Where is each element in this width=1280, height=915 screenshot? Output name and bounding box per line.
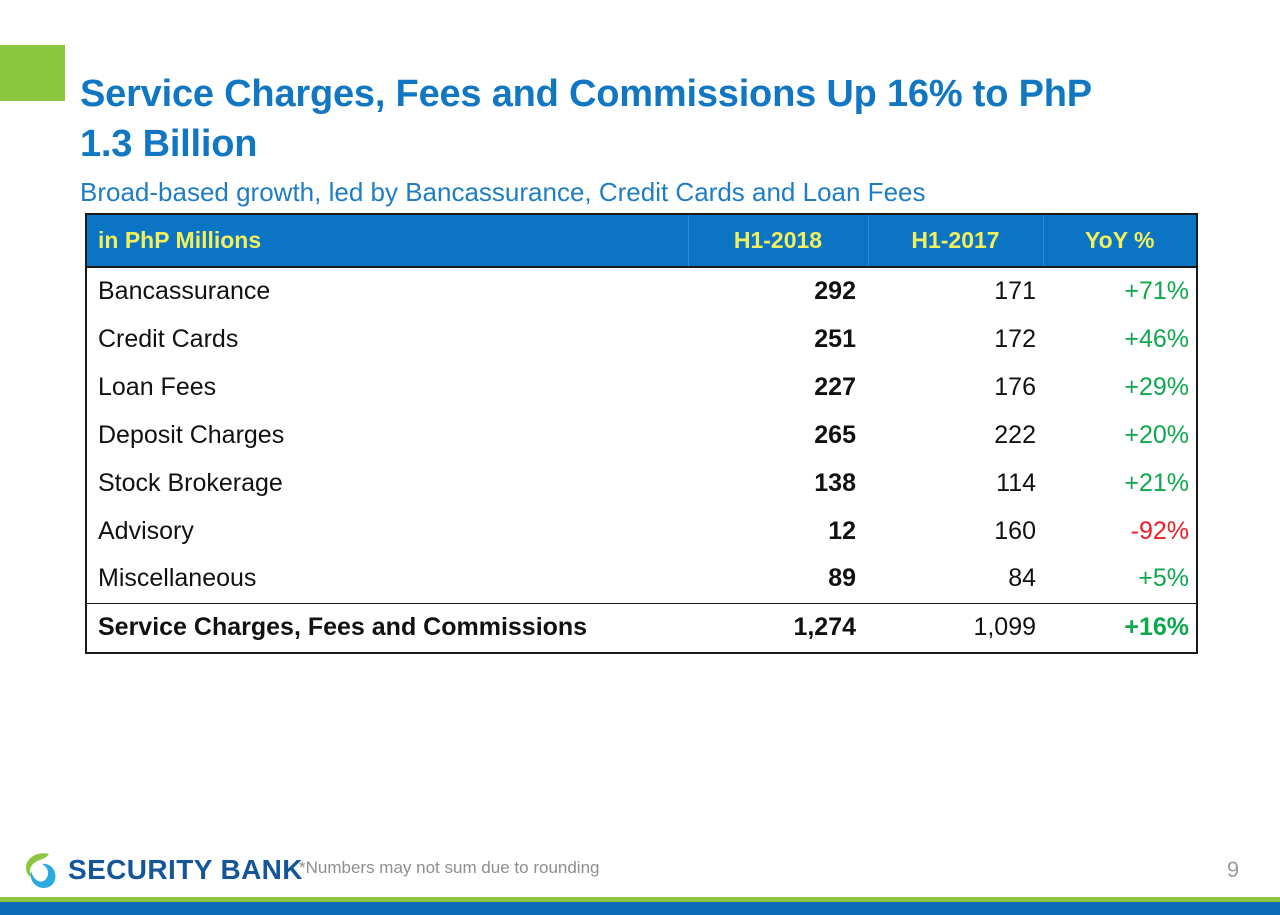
row-previous: 114: [868, 459, 1043, 507]
row-label: Stock Brokerage: [86, 459, 688, 507]
row-yoy: +46%: [1043, 315, 1197, 363]
column-header-h1-2017: H1-2017: [868, 214, 1043, 267]
row-current: 292: [688, 267, 868, 315]
accent-block: [0, 45, 65, 101]
row-previous: 172: [868, 315, 1043, 363]
row-label: Bancassurance: [86, 267, 688, 315]
table-total-row: Service Charges, Fees and Commissions 1,…: [86, 603, 1197, 653]
total-previous: 1,099: [868, 603, 1043, 653]
financial-table-container: in PhP Millions H1-2018 H1-2017 YoY % Ba…: [85, 213, 1196, 654]
row-current: 138: [688, 459, 868, 507]
row-current: 251: [688, 315, 868, 363]
table-row: Deposit Charges 265 222 +20%: [86, 411, 1197, 459]
table-row: Bancassurance 292 171 +71%: [86, 267, 1197, 315]
table-row: Credit Cards 251 172 +46%: [86, 315, 1197, 363]
row-previous: 176: [868, 363, 1043, 411]
row-previous: 222: [868, 411, 1043, 459]
total-yoy: +16%: [1043, 603, 1197, 653]
row-previous: 160: [868, 507, 1043, 555]
row-yoy: +71%: [1043, 267, 1197, 315]
page-title: Service Charges, Fees and Commissions Up…: [80, 69, 1130, 169]
row-label: Credit Cards: [86, 315, 688, 363]
security-bank-logo-icon: [21, 849, 59, 891]
table-header: in PhP Millions H1-2018 H1-2017 YoY %: [86, 214, 1197, 267]
row-current: 265: [688, 411, 868, 459]
page-number: 9: [1215, 857, 1251, 883]
brand-logo: SECURITY BANK: [21, 848, 281, 892]
column-header-h1-2018: H1-2018: [688, 214, 868, 267]
brand-name: SECURITY BANK: [68, 856, 303, 884]
table-row: Stock Brokerage 138 114 +21%: [86, 459, 1197, 507]
table-row: Miscellaneous 89 84 +5%: [86, 555, 1197, 603]
row-yoy: +29%: [1043, 363, 1197, 411]
total-label: Service Charges, Fees and Commissions: [86, 603, 688, 653]
row-yoy: +20%: [1043, 411, 1197, 459]
column-header-yoy: YoY %: [1043, 214, 1197, 267]
row-yoy: +21%: [1043, 459, 1197, 507]
row-previous: 171: [868, 267, 1043, 315]
table-body: Bancassurance 292 171 +71% Credit Cards …: [86, 267, 1197, 653]
table-row: Advisory 12 160 -92%: [86, 507, 1197, 555]
row-previous: 84: [868, 555, 1043, 603]
financial-table: in PhP Millions H1-2018 H1-2017 YoY % Ba…: [85, 213, 1198, 654]
row-label: Deposit Charges: [86, 411, 688, 459]
row-yoy: +5%: [1043, 555, 1197, 603]
table-row: Loan Fees 227 176 +29%: [86, 363, 1197, 411]
column-header-label: in PhP Millions: [86, 214, 688, 267]
row-current: 227: [688, 363, 868, 411]
row-label: Advisory: [86, 507, 688, 555]
row-yoy: -92%: [1043, 507, 1197, 555]
row-current: 89: [688, 555, 868, 603]
row-label: Miscellaneous: [86, 555, 688, 603]
footnote-text: *Numbers may not sum due to rounding: [299, 858, 600, 878]
row-current: 12: [688, 507, 868, 555]
footer-blue-bar: [0, 902, 1280, 915]
table-header-row: in PhP Millions H1-2018 H1-2017 YoY %: [86, 214, 1197, 267]
page-subtitle: Broad-based growth, led by Bancassurance…: [80, 175, 1180, 209]
row-label: Loan Fees: [86, 363, 688, 411]
total-current: 1,274: [688, 603, 868, 653]
